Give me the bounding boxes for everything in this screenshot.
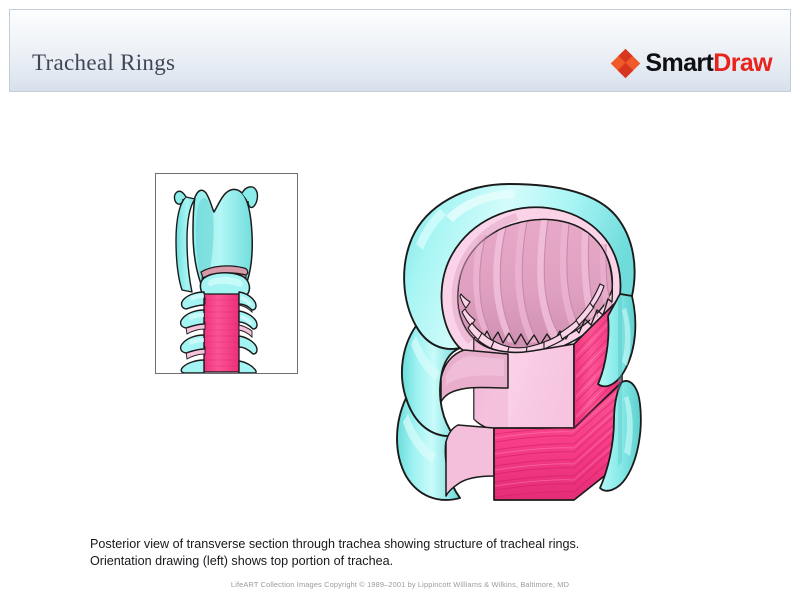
smartdraw-logo[interactable]: Smart Draw [613, 51, 772, 76]
figure-caption: Posterior view of transverse section thr… [90, 536, 750, 569]
page-title: Tracheal Rings [32, 50, 175, 76]
orientation-drawing [156, 174, 297, 373]
tracheal-rings-cutaway [386, 176, 654, 502]
brand-word-draw: Draw [713, 51, 772, 76]
caption-line-1: Posterior view of transverse section thr… [90, 536, 750, 553]
tracheal-rings-illustration [386, 176, 654, 502]
header-bar: Tracheal Rings Smart Draw [9, 9, 791, 92]
orientation-drawing-frame [155, 173, 298, 374]
smartdraw-diamonds-icon [613, 51, 638, 76]
caption-line-2: Orientation drawing (left) shows top por… [90, 553, 750, 570]
copyright-notice: LifeART Collection Images Copyright © 19… [0, 580, 800, 589]
brand-word-smart: Smart [645, 51, 713, 76]
